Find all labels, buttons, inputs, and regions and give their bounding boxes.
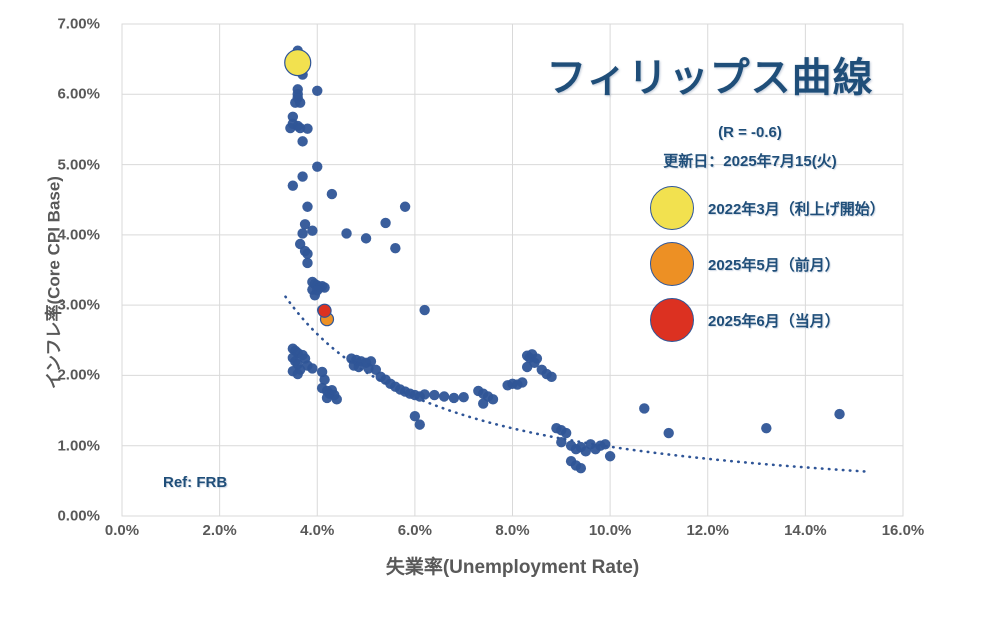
x-axis-tick-label: 4.0% — [272, 522, 362, 539]
update-date-label: 更新日：2025年7月15(火) — [600, 150, 900, 171]
y-axis-tick-label: 6.00% — [14, 86, 100, 103]
legend-swatch-circle-icon — [650, 186, 694, 230]
legend-item-label: 2022年3月（利上げ開始） — [708, 198, 885, 219]
x-axis-tick-label: 0.0% — [77, 522, 167, 539]
x-axis-tick-label: 8.0% — [468, 522, 558, 539]
x-axis-tick-label: 12.0% — [663, 522, 753, 539]
source-reference-label: Ref: FRB — [163, 474, 227, 491]
correlation-value: (R = -0.6) — [620, 124, 880, 141]
legend-item-label: 2025年6月（当月） — [708, 310, 840, 331]
legend-swatch-circle-icon — [650, 298, 694, 342]
legend-item-label: 2025年5月（前月） — [708, 254, 840, 275]
x-axis-tick-label: 2.0% — [175, 522, 265, 539]
y-axis-tick-label: 7.00% — [14, 16, 100, 33]
x-axis-tick-label: 6.0% — [370, 522, 460, 539]
x-axis-tick-label: 14.0% — [760, 522, 850, 539]
chart-title: フィリップス曲線 — [500, 45, 920, 103]
x-axis-tick-label: 16.0% — [858, 522, 948, 539]
y-axis-title: インフレ率(Core CPI Base) — [40, 113, 65, 453]
phillips-curve-chart: 0.00%1.00%2.00%3.00%4.00%5.00%6.00%7.00%… — [0, 0, 1000, 620]
legend-swatch-circle-icon — [650, 242, 694, 286]
x-axis-tick-label: 10.0% — [565, 522, 655, 539]
x-axis-title: 失業率(Unemployment Rate) — [122, 552, 903, 579]
